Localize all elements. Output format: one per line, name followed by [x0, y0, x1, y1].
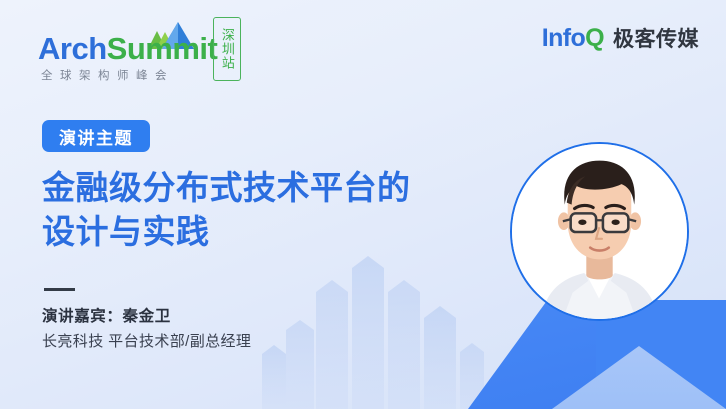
archsummit-wordmark: ArchSummit	[38, 33, 217, 64]
speaker-portrait	[510, 142, 689, 321]
speaker-name: 演讲嘉宾：秦金卫	[42, 305, 442, 329]
infoq-chinese-name: 极客传媒	[613, 23, 699, 53]
session-title-line-2: 设计与实践	[42, 210, 472, 254]
title-divider	[44, 288, 75, 291]
city-badge-label: 深圳站	[220, 28, 234, 70]
speaker-affiliation: 长亮科技 平台技术部/副总经理	[42, 329, 442, 355]
session-title-line-1: 金融级分布式技术平台的	[42, 166, 472, 210]
presentation-slide: ArchSummit 全球架构师峰会 深圳站 Info Q 极客传媒 演讲主题 …	[0, 0, 726, 409]
archsummit-summit-text: Summit	[107, 31, 218, 66]
session-title: 金融级分布式技术平台的 设计与实践	[42, 166, 472, 254]
archsummit-arch-text: Arch	[38, 31, 107, 66]
topic-badge-label: 演讲主题	[59, 124, 133, 149]
speaker-headshot-illustration	[512, 144, 687, 319]
city-badge: 深圳站	[213, 17, 241, 81]
speaker-info: 演讲嘉宾：秦金卫 长亮科技 平台技术部/副总经理	[42, 305, 442, 355]
infoq-info-text: Info	[542, 24, 585, 53]
archsummit-subtitle: 全球架构师峰会	[41, 67, 174, 83]
infoq-q-text: Q	[585, 24, 604, 53]
infoq-logo: Info Q 极客传媒	[542, 23, 699, 53]
topic-badge: 演讲主题	[42, 120, 150, 152]
slide-header: ArchSummit 全球架构师峰会 深圳站 Info Q 极客传媒	[0, 0, 726, 96]
